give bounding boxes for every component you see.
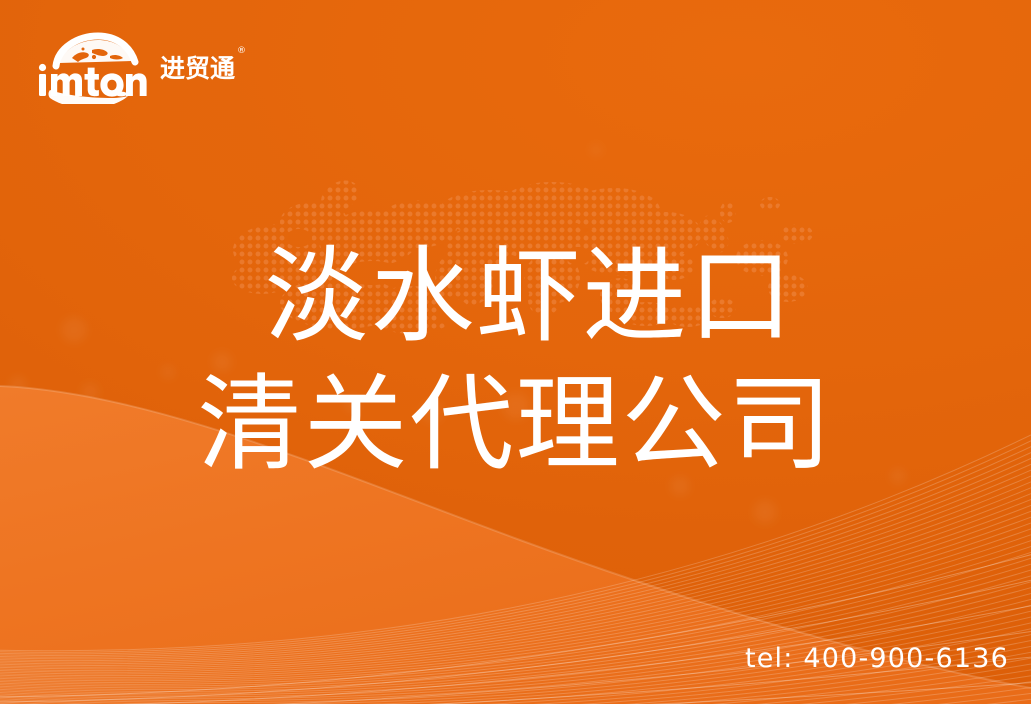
globe-icon — [34, 32, 156, 104]
fan-line — [0, 478, 1031, 664]
contact-phone[interactable]: tel: 400-900-6136 — [745, 643, 1009, 674]
page-title: 淡水虾进口 清关代理公司 — [0, 232, 1031, 488]
brand-logo[interactable]: 进贸通 ® — [34, 32, 244, 104]
fan-line — [0, 466, 1031, 661]
fan-line — [0, 579, 1031, 693]
logo-chinese-text: 进贸通 — [160, 54, 235, 83]
logo-mark — [34, 32, 156, 104]
poster-canvas: 进贸通 ® 淡水虾进口 清关代理公司 tel: 400-900-6136 — [0, 0, 1031, 704]
logo-chinese-name: 进贸通 ® — [160, 56, 235, 81]
fan-line — [0, 472, 1031, 663]
headline-line-1: 淡水虾进口 — [0, 232, 1031, 360]
registered-trademark-icon: ® — [237, 47, 246, 56]
headline-line-2: 清关代理公司 — [0, 360, 1031, 488]
